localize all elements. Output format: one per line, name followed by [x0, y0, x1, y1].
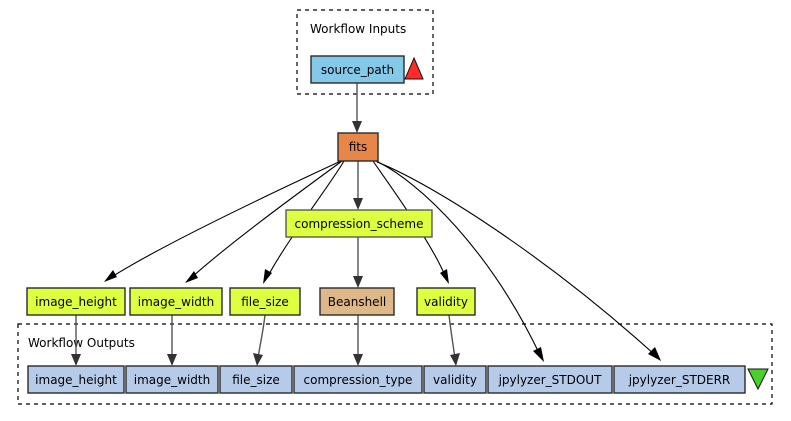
node-file-size-label: file_size: [241, 295, 289, 309]
node-validity[interactable]: validity: [417, 288, 475, 315]
output-port-compression-type-label: compression_type: [304, 373, 413, 387]
edge-fits-to-compression-scheme: [353, 161, 363, 210]
node-compression-scheme-label: compression_scheme: [295, 217, 424, 231]
output-port-image-width-label: image_width: [134, 373, 210, 387]
node-image-width[interactable]: image_width: [130, 288, 222, 315]
node-beanshell[interactable]: Beanshell: [320, 288, 394, 315]
node-fits[interactable]: fits: [338, 133, 378, 161]
node-beanshell-label: Beanshell: [328, 295, 386, 309]
output-port-jpylyzer-stdout[interactable]: jpylyzer_STDOUT: [488, 366, 612, 393]
output-port-image-height-label: image_height: [35, 373, 117, 387]
edge-beanshell-to-output: [353, 315, 363, 366]
output-port-file-size[interactable]: file_size: [220, 366, 292, 393]
output-port-validity-label: validity: [433, 373, 477, 387]
input-marker-triangle: [405, 58, 423, 79]
node-image-height[interactable]: image_height: [27, 288, 125, 315]
output-port-file-size-label: file_size: [232, 373, 280, 387]
output-port-image-width[interactable]: image_width: [126, 366, 218, 393]
output-port-validity[interactable]: validity: [424, 366, 486, 393]
output-port-compression-type[interactable]: compression_type: [294, 366, 422, 393]
edge-fits-to-jpylyzer-stdout: [376, 161, 544, 362]
output-port-jpylyzer-stderr-label: jpylyzer_STDERR: [628, 373, 731, 387]
workflow-inputs-label: Workflow Inputs: [310, 22, 406, 36]
node-validity-label: validity: [424, 295, 468, 309]
edge-fits-to-jpylyzer-stderr: [377, 162, 661, 361]
output-port-jpylyzer-stdout-label: jpylyzer_STDOUT: [498, 373, 603, 387]
node-fits-label: fits: [349, 140, 368, 154]
edge-validity-to-output: [449, 315, 460, 366]
workflow-diagram-canvas: Workflow Inputs Workflow Outputs: [0, 0, 791, 421]
edge-file-size-to-output: [253, 315, 265, 366]
node-file-size[interactable]: file_size: [230, 288, 300, 315]
workflow-outputs-label: Workflow Outputs: [28, 336, 135, 350]
edge-fits-to-beanshell: [353, 237, 363, 288]
output-port-image-height[interactable]: image_height: [28, 366, 124, 393]
node-image-width-label: image_width: [138, 295, 214, 309]
node-source-path-label: source_path: [321, 63, 394, 77]
output-port-jpylyzer-stderr[interactable]: jpylyzer_STDERR: [614, 366, 745, 393]
edge-image-width-to-output: [167, 315, 177, 366]
diagram-svg: Workflow Inputs Workflow Outputs: [0, 0, 791, 421]
node-image-height-label: image_height: [35, 295, 117, 309]
node-source-path[interactable]: source_path: [311, 56, 404, 83]
edge-source-path-to-fits: [352, 83, 362, 133]
output-marker-triangle: [748, 369, 768, 389]
node-compression-scheme[interactable]: compression_scheme: [286, 210, 432, 237]
